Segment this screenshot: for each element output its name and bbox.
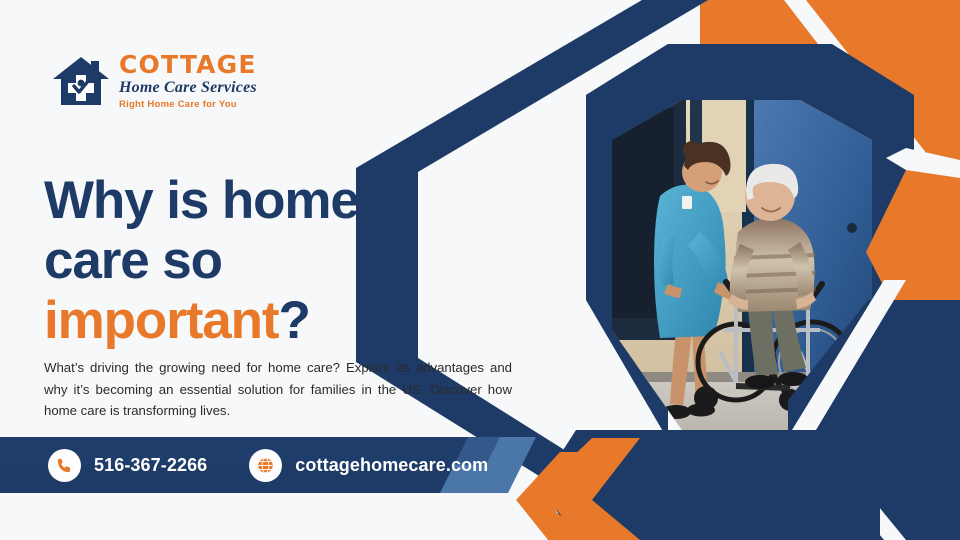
headline-line-3: important? xyxy=(44,291,464,351)
phone-number: 516-367-2266 xyxy=(94,455,207,476)
headline-line-2: care so xyxy=(44,231,464,291)
brand-word: COTTAGE xyxy=(119,52,257,77)
phone-icon xyxy=(48,449,81,482)
contact-website[interactable]: cottagehomecare.com xyxy=(249,449,488,482)
contact-bar: 516-367-2266 cottagehomecare.com xyxy=(0,437,488,493)
body-paragraph: What’s driving the growing need for home… xyxy=(44,357,512,422)
page-title: Why is home care so important? xyxy=(44,171,464,352)
globe-icon xyxy=(249,449,282,482)
website-url: cottagehomecare.com xyxy=(295,455,488,476)
house-with-medical-cross-checkmark-icon xyxy=(52,55,110,107)
brand-tagline: Right Home Care for You xyxy=(119,100,257,110)
headline-line-1: Why is home xyxy=(44,171,464,231)
contact-phone[interactable]: 516-367-2266 xyxy=(48,449,207,482)
banner-canvas: COTTAGE Home Care Services Right Home Ca… xyxy=(0,0,960,540)
headline-question-mark: ? xyxy=(278,291,309,350)
brand-logo[interactable]: COTTAGE Home Care Services Right Home Ca… xyxy=(52,52,257,110)
brand-logo-text: COTTAGE Home Care Services Right Home Ca… xyxy=(119,52,257,110)
headline-accent-word: important xyxy=(44,291,278,350)
brand-script: Home Care Services xyxy=(119,80,257,96)
